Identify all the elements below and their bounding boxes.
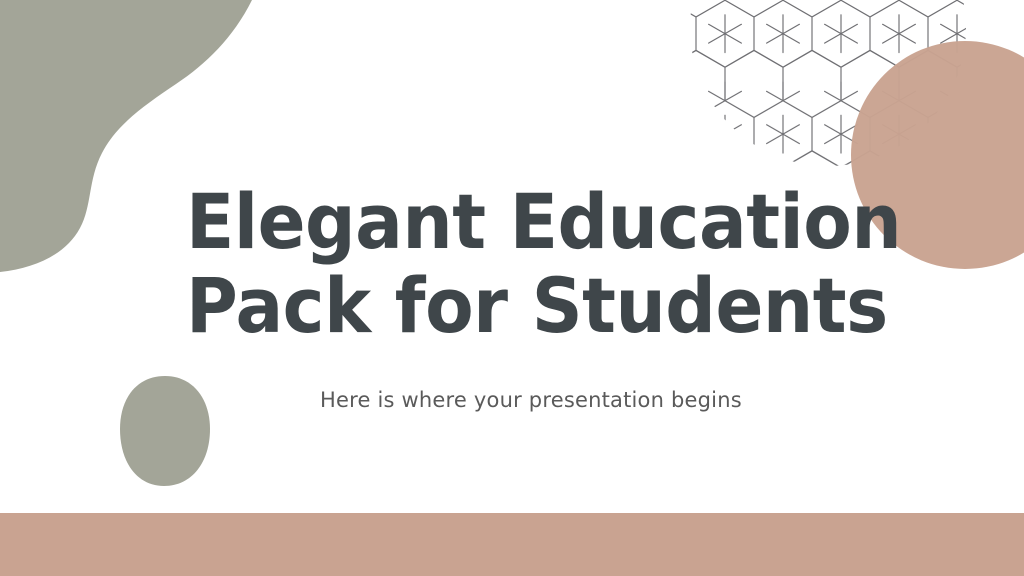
title-line-2: Pack for Students (186, 264, 818, 348)
page-title: Elegant Education Pack for Students (186, 180, 866, 348)
slide-text-layer: Elegant Education Pack for Students Here… (0, 0, 1024, 576)
presentation-slide: Elegant Education Pack for Students Here… (0, 0, 1024, 576)
title-line-1: Elegant Education (186, 180, 818, 264)
slide-subtitle: Here is where your presentation begins (320, 386, 742, 414)
